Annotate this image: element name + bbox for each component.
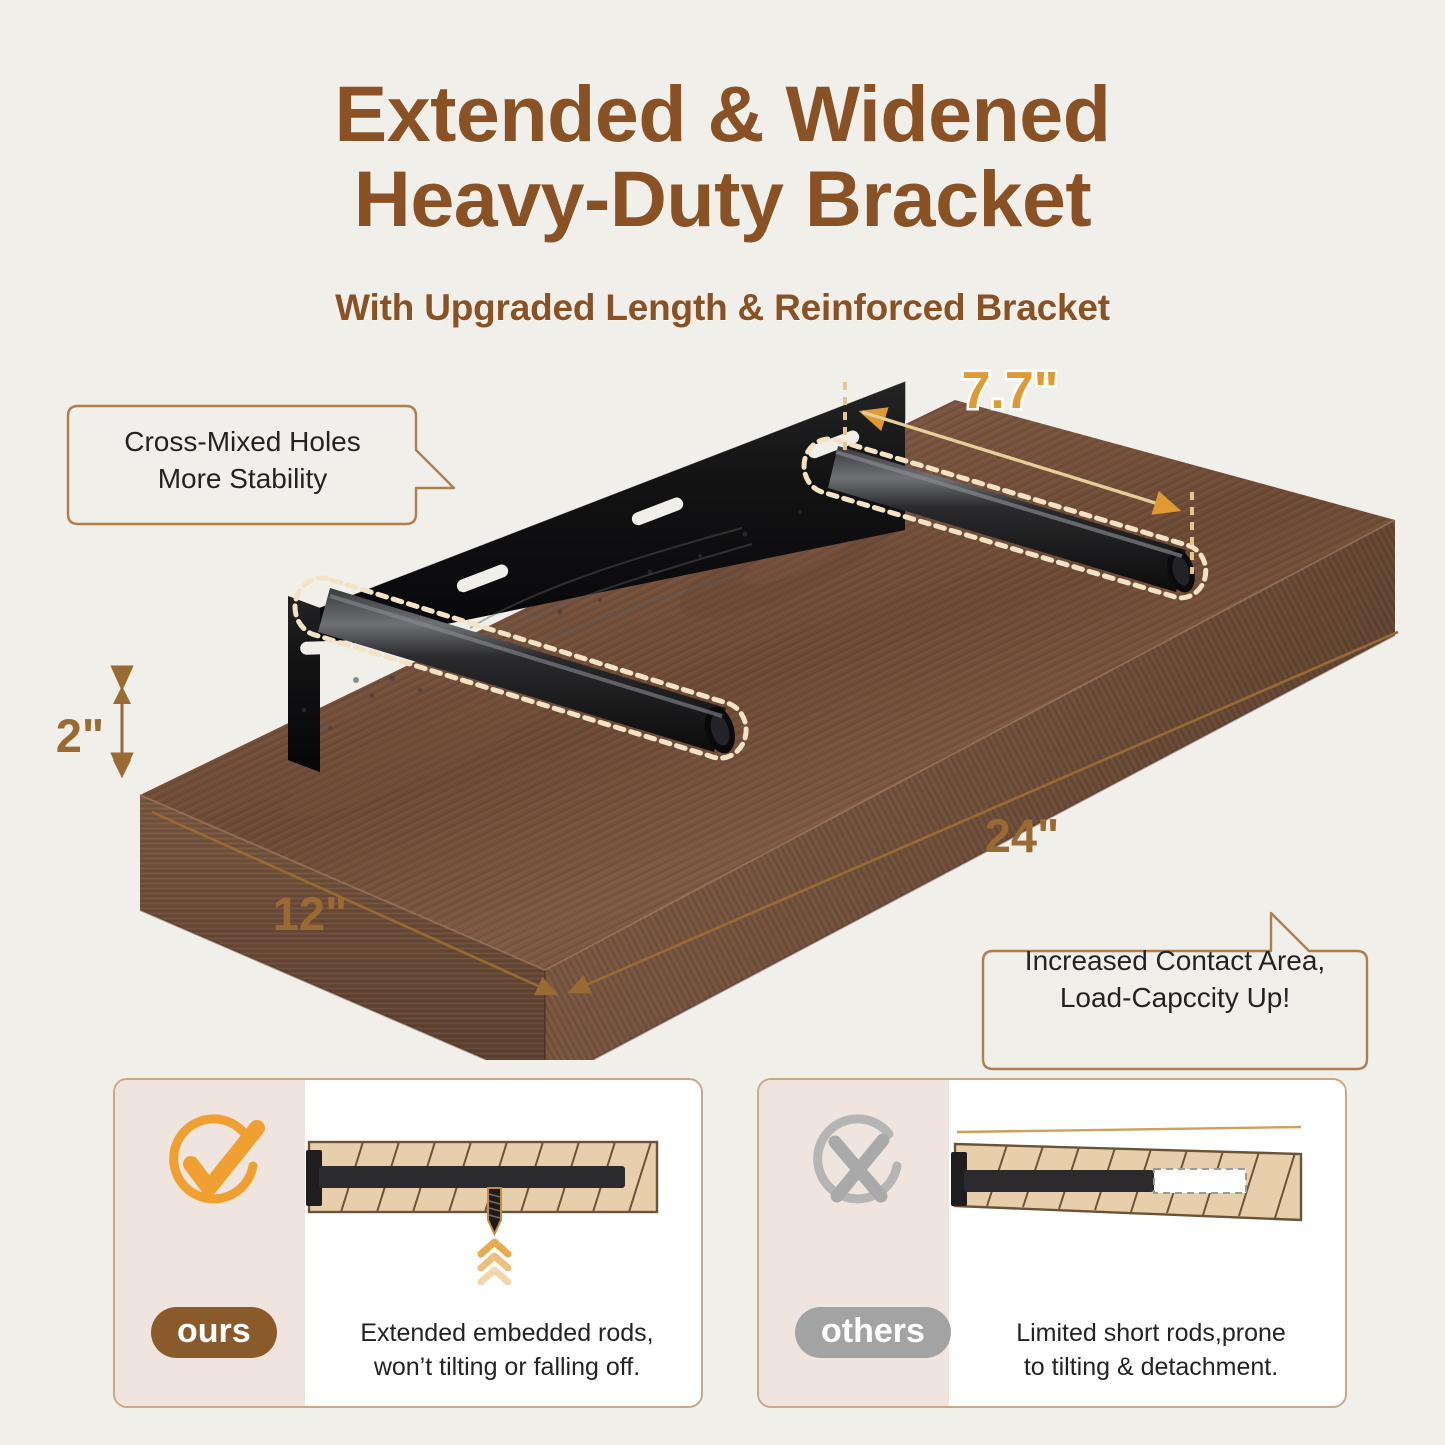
cross-circle-icon — [801, 1112, 913, 1225]
caption-line-1: Limited short rods,prone — [955, 1317, 1347, 1351]
caption-others: Limited short rods,prone to tilting & de… — [955, 1317, 1347, 1384]
dimension-label-24: 24" — [985, 809, 1060, 862]
caption-line-1: Extended embedded rods, — [311, 1317, 703, 1351]
comparison-card-others: others — [757, 1078, 1347, 1408]
comparison-card-ours: ours — [113, 1078, 703, 1408]
badge-others: others — [795, 1307, 951, 1358]
figure-ours — [305, 1102, 703, 1292]
product-illustration: 7.7" 2" 12" 24" — [0, 360, 1445, 1060]
dimension-label-2: 2" — [56, 709, 104, 762]
infographic-canvas: Extended & Widened Heavy-Duty Bracket Wi… — [0, 0, 1445, 1445]
page-subtitle: With Upgraded Length & Reinforced Bracke… — [0, 287, 1445, 329]
title-line-1: Extended & Widened — [335, 69, 1111, 158]
comparison-section: ours — [0, 1078, 1445, 1418]
figure-others — [949, 1102, 1347, 1292]
caption-ours: Extended embedded rods, won’t tilting or… — [311, 1317, 703, 1384]
check-circle-icon — [157, 1112, 269, 1225]
caption-line-2: to tilting & detachment. — [955, 1351, 1347, 1385]
badge-ours: ours — [151, 1307, 277, 1358]
title-line-2: Heavy-Duty Bracket — [0, 157, 1445, 242]
dimension-label-12: 12" — [273, 887, 348, 940]
page-title: Extended & Widened Heavy-Duty Bracket — [0, 72, 1445, 241]
dimension-label-77: 7.7" — [962, 362, 1059, 420]
screw-icon — [488, 1188, 501, 1234]
dimension-2: 2" — [56, 686, 200, 790]
caption-line-2: won’t tilting or falling off. — [311, 1351, 703, 1385]
